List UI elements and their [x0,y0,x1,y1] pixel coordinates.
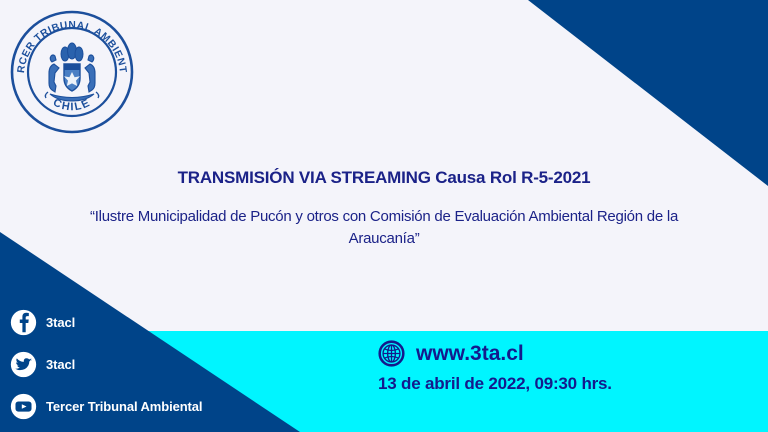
youtube-icon[interactable] [10,393,37,420]
headline-block: TRANSMISIÓN VIA STREAMING Causa Rol R-5-… [0,168,768,249]
coat-of-arms [45,43,98,101]
social-media-list: 3tacl 3tacl Tercer Tribunal Ambiental [10,308,202,420]
case-subtitle: “Ilustre Municipalidad de Pucón y otros … [64,206,704,249]
social-row-facebook[interactable]: 3tacl [10,308,202,336]
broadcast-title: TRANSMISIÓN VIA STREAMING Causa Rol R-5-… [0,168,768,188]
facebook-icon[interactable] [10,309,37,336]
broadcast-datetime: 13 de abril de 2022, 09:30 hrs. [378,374,612,394]
facebook-handle: 3tacl [46,315,75,330]
youtube-channel-name: Tercer Tribunal Ambiental [46,399,202,414]
twitter-handle: 3tacl [46,357,75,372]
social-row-youtube[interactable]: Tercer Tribunal Ambiental [10,392,202,420]
condor-supporter [85,55,95,92]
website-url[interactable]: www.3ta.cl [416,342,524,366]
social-row-twitter[interactable]: 3tacl [10,350,202,378]
streaming-announcement-slide: TERCER TRIBUNAL AMBIENTAL CHILE TRANSMIS… [0,0,768,432]
twitter-icon[interactable] [10,351,37,378]
crest-plume-right [75,47,83,61]
huemul-supporter [49,55,59,92]
globe-icon [378,340,405,367]
tribunal-seal-logo: TERCER TRIBUNAL AMBIENTAL CHILE [8,8,136,136]
website-row[interactable]: www.3ta.cl [378,340,612,367]
website-and-datetime-block: www.3ta.cl 13 de abril de 2022, 09:30 hr… [378,340,612,394]
shield-chief [64,64,80,70]
